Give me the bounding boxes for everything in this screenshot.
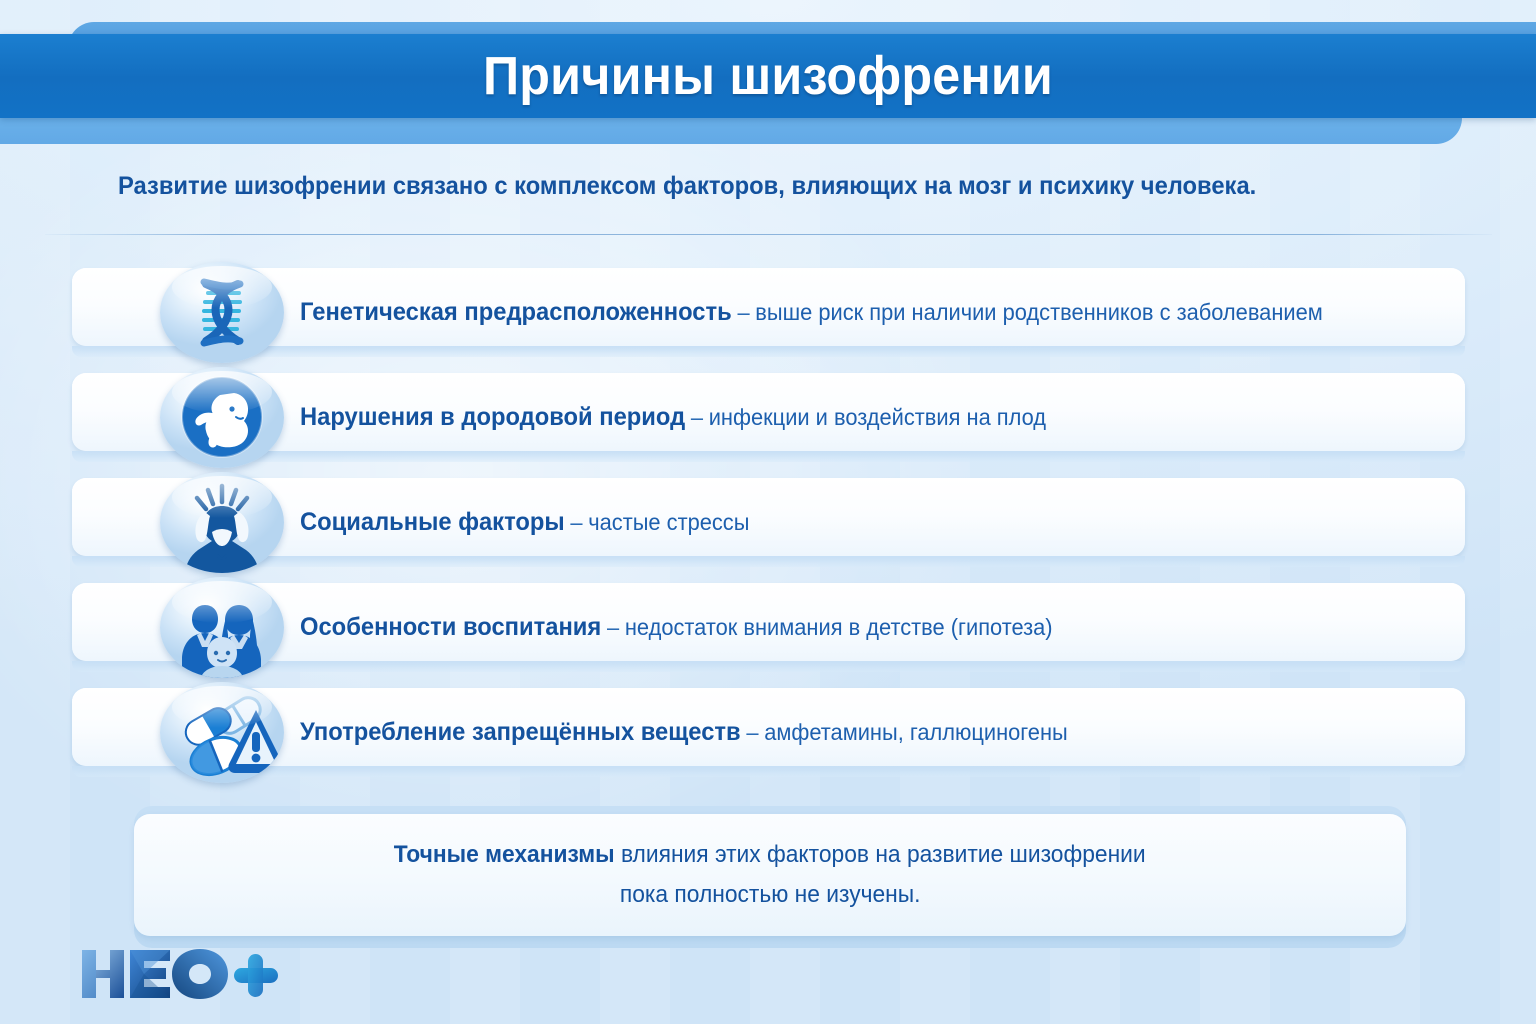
intro-text: Развитие шизофрении связано с комплексом…	[118, 172, 1353, 201]
conclusion-line-2: пока полностью не изучены.	[620, 881, 921, 909]
section-divider	[45, 234, 1492, 235]
list-item[interactable]: Социальные факторы – частые стрессы	[0, 472, 1536, 573]
factor-title: Социальные факторы	[300, 508, 565, 537]
factor-text: Нарушения в дородовой период – инфекции …	[300, 367, 1046, 468]
conclusion-box: Точные механизмы влияния этих факторов н…	[134, 814, 1406, 936]
factor-title: Нарушения в дородовой период	[300, 403, 685, 432]
factor-list: Генетическая предрасположенность – выше …	[0, 262, 1536, 787]
factor-dash: –	[746, 719, 758, 746]
factor-dash: –	[737, 299, 749, 326]
pills-warning-icon	[160, 682, 284, 783]
page-title: Причины шизофрении	[54, 34, 1482, 118]
factor-description: амфетамины, галлюциногены	[764, 719, 1068, 746]
factor-text: Социальные факторы – частые стрессы	[300, 472, 749, 573]
factor-text: Употребление запрещённых веществ – амфет…	[300, 682, 1068, 783]
factor-dash: –	[607, 614, 619, 641]
list-item[interactable]: Нарушения в дородовой период – инфекции …	[0, 367, 1536, 468]
factor-dash: –	[691, 404, 703, 431]
conclusion-line-1: Точные механизмы влияния этих факторов н…	[394, 841, 1146, 869]
stress-person-icon	[160, 472, 284, 573]
factor-title: Употребление запрещённых веществ	[300, 718, 741, 747]
factor-description: недостаток внимания в детстве (гипотеза)	[625, 614, 1053, 641]
conclusion-rest: влияния этих факторов на развитие шизофр…	[615, 841, 1146, 868]
header: Причины шизофрении	[0, 0, 1536, 152]
factor-description: частые стрессы	[588, 509, 749, 536]
factor-dash: –	[570, 509, 582, 536]
list-item[interactable]: Употребление запрещённых веществ – амфет…	[0, 682, 1536, 783]
infographic-root: Причины шизофрении Развитие шизофрении с…	[0, 0, 1536, 1024]
list-item[interactable]: Генетическая предрасположенность – выше …	[0, 262, 1536, 363]
family-icon	[160, 577, 284, 678]
fetus-icon	[160, 367, 284, 468]
factor-text: Особенности воспитания – недостаток вним…	[300, 577, 1053, 678]
dna-icon	[160, 262, 284, 363]
factor-title: Особенности воспитания	[300, 613, 601, 642]
factor-description: выше риск при наличии родственников с за…	[755, 299, 1322, 326]
factor-text: Генетическая предрасположенность – выше …	[300, 262, 1323, 363]
list-item[interactable]: Особенности воспитания – недостаток вним…	[0, 577, 1536, 678]
conclusion-bold: Точные механизмы	[394, 841, 615, 868]
factor-description: инфекции и воздействия на плод	[709, 404, 1046, 431]
neo-plus-logo[interactable]	[78, 944, 278, 1004]
factor-title: Генетическая предрасположенность	[300, 298, 732, 327]
